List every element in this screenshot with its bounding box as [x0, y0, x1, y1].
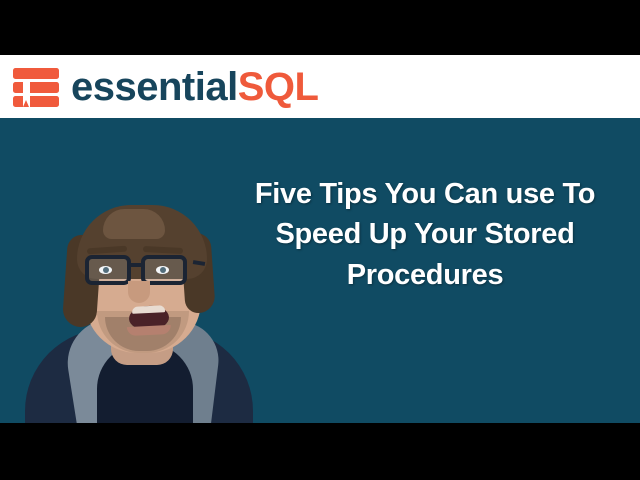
brand-header-bar: essential SQL [0, 55, 640, 118]
glasses-bridge [131, 263, 141, 267]
letterbox-bar-bottom [0, 423, 640, 480]
presenter-video-overlay [25, 193, 253, 423]
slide-background: Five Tips You Can use To Speed Up Your S… [0, 118, 640, 423]
glasses-lens-left [85, 255, 131, 285]
logo-bar-bottom [13, 96, 59, 107]
stacked-bars-bookmark-icon [10, 64, 62, 110]
logo-bar-top [13, 68, 59, 79]
letterbox-bar-top [0, 0, 640, 55]
slide-title: Five Tips You Can use To Speed Up Your S… [226, 174, 624, 295]
presenter-nose [128, 281, 150, 303]
slide-title-line-2: Speed Up Your Stored [226, 214, 624, 254]
presenter-hair-highlight [103, 209, 165, 239]
brand-word-essential: essential [71, 67, 238, 107]
brand-word-sql: SQL [238, 67, 319, 107]
slide-title-line-3: Procedures [226, 255, 624, 295]
logo-bar-middle [13, 82, 59, 93]
brand-logo: essential SQL [10, 64, 318, 110]
slide-title-line-1: Five Tips You Can use To [226, 174, 624, 214]
logo-bookmark-tail [23, 100, 29, 107]
video-frame: Five Tips You Can use To Speed Up Your S… [0, 0, 640, 480]
